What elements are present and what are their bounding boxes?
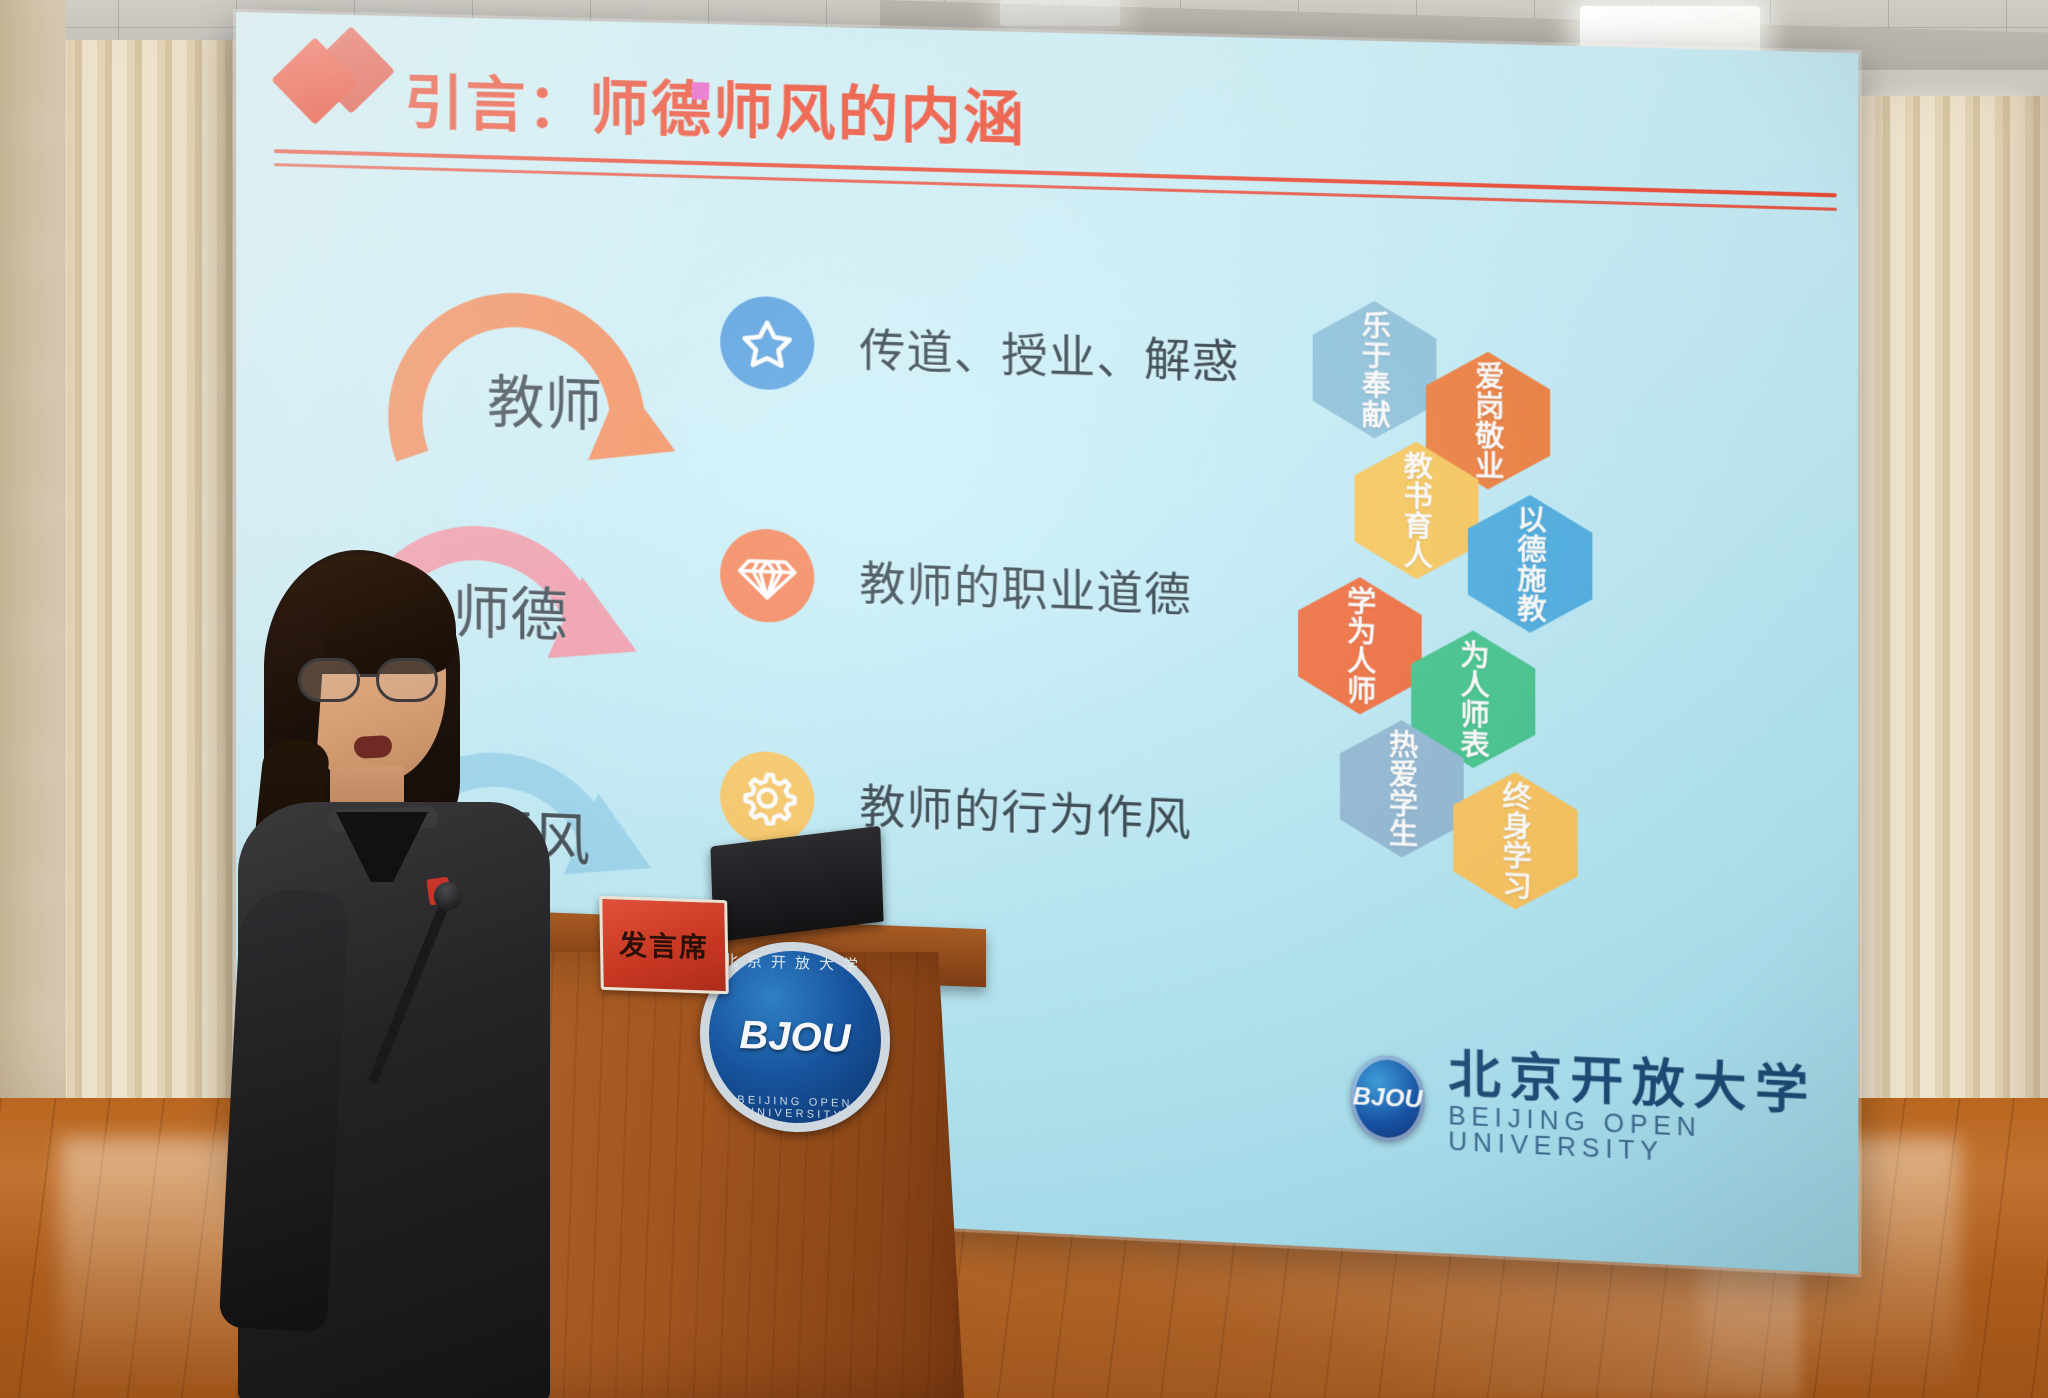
- lecture-hall-scene: 引言：师德师风的内涵: [0, 0, 2048, 1398]
- slide-title-block: 引言：师德师风的内涵: [256, 27, 1848, 254]
- bullet-text-2: 教师的职业道德: [859, 546, 1192, 624]
- hexagon-label-8: 终身学习: [1499, 780, 1532, 901]
- bullet-text-1: 传道、授业、解惑: [859, 313, 1239, 391]
- university-name-block: 北京开放大学 BEIJING OPEN UNIVERSITY: [1448, 1048, 1858, 1175]
- podium-nameplate-text: 发言席: [619, 923, 710, 966]
- bullet-row-1: 传道、授业、解惑: [720, 295, 1239, 405]
- hexagon-label-6: 为人师表: [1457, 639, 1490, 759]
- ceiling-light-3: [1000, 0, 1120, 26]
- slide-title: 引言：师德师风的内涵: [404, 54, 1026, 157]
- hexagon-label-5: 学为人师: [1343, 586, 1376, 706]
- bjou-badge-icon: BJOU: [1350, 1054, 1425, 1144]
- cycle-label-teacher: 教师: [487, 356, 602, 442]
- diamond-decor-icon: [276, 35, 396, 130]
- podium-nameplate: 发言席: [599, 896, 729, 995]
- bullet-text-3: 教师的行为作风: [859, 769, 1192, 849]
- title-accent-square: [692, 82, 709, 100]
- speaker: [232, 540, 562, 1398]
- hexagon-label-3: 教书育人: [1400, 450, 1433, 570]
- hexagon-4: 以德施教: [1468, 493, 1592, 635]
- hexagon-label-2: 爱岗敬业: [1471, 361, 1504, 481]
- hexagon-1: 乐于奉献: [1313, 299, 1437, 440]
- diamond-icon: [720, 527, 814, 624]
- hexagon-label-7: 热爱学生: [1385, 729, 1418, 849]
- hexagon-label-1: 乐于奉献: [1358, 310, 1391, 430]
- hexagon-5: 学为人师: [1298, 575, 1422, 717]
- bullet-row-2: 教师的职业道德: [720, 527, 1192, 638]
- podium-emblem-badge-text: BJOU: [739, 1013, 850, 1062]
- hexagon-8: 终身学习: [1453, 769, 1577, 912]
- hexagon-cluster: 乐于奉献 爱岗敬业 教书育人 以德施教 学为人师 为人师表 热爱学生 终身学习: [1298, 282, 1751, 936]
- gear-icon: [720, 750, 814, 847]
- slide-footer-logo: BJOU 北京开放大学 BEIJING OPEN UNIVERSITY: [1350, 1044, 1858, 1175]
- hexagon-label-4: 以德施教: [1514, 504, 1547, 624]
- speaker-arm: [219, 887, 350, 1332]
- podium-emblem: 北京开放大学 BJOU BEIJING OPEN UNIVERSITY: [700, 939, 890, 1136]
- speaker-mouth: [353, 735, 392, 759]
- speaker-glasses: [298, 658, 446, 702]
- left-curtain-edge: [0, 0, 66, 1180]
- title-rule-top: [274, 149, 1837, 197]
- star-icon: [720, 295, 814, 391]
